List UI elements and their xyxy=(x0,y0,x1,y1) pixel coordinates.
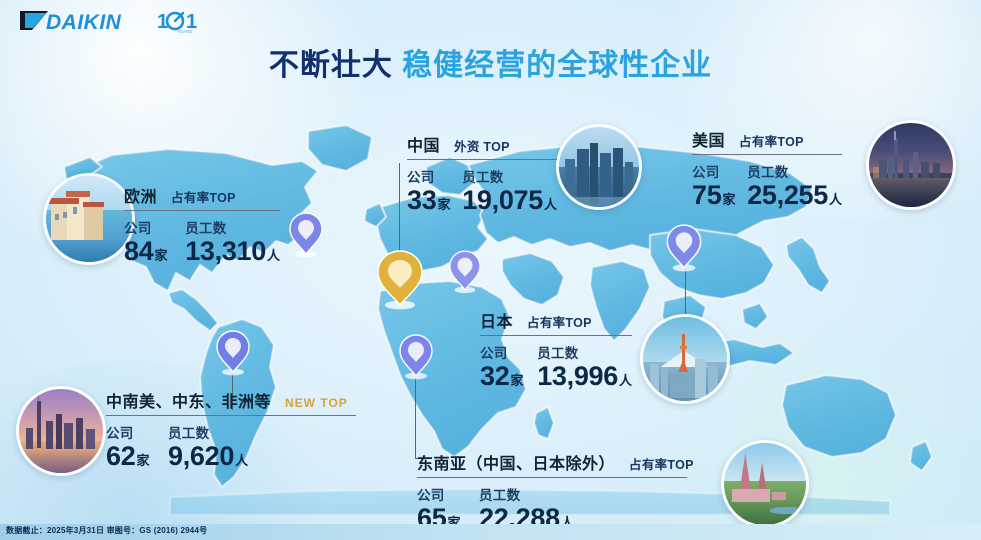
page-title: 不断壮大 稳健经营的全球性企业 xyxy=(0,40,981,84)
southeast-asia-temple-photo[interactable] xyxy=(721,440,809,528)
metric-staff-japan: 员工数 13,996人 xyxy=(537,342,632,390)
region-tag-japan: 占有率TOP xyxy=(527,312,592,331)
region-header-southeast-asia: 东南亚（中国、日本除外） 占有率TOP xyxy=(417,450,687,476)
region-name-other-regions: 中南美、中东、非洲等 xyxy=(106,388,271,412)
region-block-other-regions: 中南美、中东、非洲等 NEW TOP 公司 62家 员工数 9,620人 xyxy=(106,388,356,470)
region-header-japan: 日本 占有率TOP xyxy=(480,308,632,334)
region-metrics-china: 公司 33家 员工数 19,075人 xyxy=(407,166,557,214)
metric-company-japan: 公司 32家 xyxy=(480,342,537,390)
europe-coastal-village-photo[interactable] xyxy=(43,173,135,265)
divider-japan xyxy=(480,335,632,336)
metric-company-value-usa: 75家 xyxy=(692,182,747,209)
region-name-china: 中国 xyxy=(407,132,440,156)
region-metrics-other-regions: 公司 62家 员工数 9,620人 xyxy=(106,422,356,470)
metric-staff-label-china: 员工数 xyxy=(462,166,557,186)
region-metrics-europe: 公司 84家 员工数 13,310人 xyxy=(124,217,280,265)
metric-company-value-other-regions: 62家 xyxy=(106,443,168,470)
metric-company-value-china: 33家 xyxy=(407,187,462,214)
metric-staff-europe: 员工数 13,310人 xyxy=(185,217,280,265)
region-name-usa: 美国 xyxy=(692,127,725,151)
divider-other-regions xyxy=(106,415,356,416)
metric-company-label-china: 公司 xyxy=(407,166,462,186)
page-title-part-dark: 不断壮大 xyxy=(269,49,393,82)
region-metrics-japan: 公司 32家 员工数 13,996人 xyxy=(480,342,632,390)
metric-staff-value-other-regions: 9,620人 xyxy=(168,443,248,470)
region-block-japan: 日本 占有率TOP 公司 32家 员工数 13,996人 xyxy=(480,308,632,390)
metric-staff-other-regions: 员工数 9,620人 xyxy=(168,422,248,470)
metric-company-china: 公司 33家 xyxy=(407,166,462,214)
metric-company-label-europe: 公司 xyxy=(124,217,185,237)
region-tag-usa: 占有率TOP xyxy=(739,131,804,150)
metric-staff-label-usa: 员工数 xyxy=(747,161,842,181)
svg-text:DAIKIN: DAIKIN xyxy=(46,11,122,34)
svg-text:YEARS: YEARS xyxy=(177,29,192,34)
metric-staff-usa: 员工数 25,255人 xyxy=(747,161,842,209)
region-name-europe: 欧洲 xyxy=(124,183,157,207)
page-title-part-light: 稳健经营的全球性企业 xyxy=(402,49,712,82)
region-header-usa: 美国 占有率TOP xyxy=(692,127,842,153)
region-header-other-regions: 中南美、中东、非洲等 NEW TOP xyxy=(106,388,356,414)
region-block-usa: 美国 占有率TOP 公司 75家 员工数 25,255人 xyxy=(692,127,842,209)
region-header-europe: 欧洲 占有率TOP xyxy=(124,183,280,209)
footer-note: 数据截止：2025年3月31日 审图号：GS (2016) 2944号 xyxy=(6,525,207,536)
slide-canvas: DAIKIN 1 1 YEARS 不断壮大 稳健经营的全球性企业 xyxy=(0,0,981,540)
metric-company-value-japan: 32家 xyxy=(480,363,537,390)
daikin-logo-icon: DAIKIN xyxy=(18,8,148,34)
anniversary-101-icon: 1 1 YEARS xyxy=(157,8,197,34)
region-tag-china: 外资 TOP xyxy=(454,136,510,155)
region-tag-europe: 占有率TOP xyxy=(171,187,236,206)
middle-east-dubai-skyline-photo[interactable] xyxy=(16,386,106,476)
divider-usa xyxy=(692,154,842,155)
region-block-china: 中国 外资 TOP 公司 33家 员工数 19,075人 xyxy=(407,132,557,214)
china-city-skyline-photo[interactable] xyxy=(556,124,642,210)
metric-staff-label-europe: 员工数 xyxy=(185,217,280,237)
pin-usa[interactable] xyxy=(665,222,703,272)
pin-china[interactable] xyxy=(375,248,425,310)
metric-staff-china: 员工数 19,075人 xyxy=(462,166,557,214)
pin-southeast-asia[interactable] xyxy=(398,332,434,380)
usa-newyork-skyline-photo[interactable] xyxy=(866,120,956,210)
metric-staff-value-china: 19,075人 xyxy=(462,187,557,214)
region-tag-other-regions: NEW TOP xyxy=(285,396,348,410)
pin-europe[interactable] xyxy=(288,210,324,258)
pin-other-regions[interactable] xyxy=(215,328,251,376)
region-name-japan: 日本 xyxy=(480,308,513,332)
metric-company-europe: 公司 84家 xyxy=(124,217,185,265)
metric-company-label-other-regions: 公司 xyxy=(106,422,168,442)
metric-staff-label-southeast-asia: 员工数 xyxy=(479,484,574,504)
region-header-china: 中国 外资 TOP xyxy=(407,132,557,158)
connector-southeast-asia xyxy=(415,378,416,458)
region-name-southeast-asia: 东南亚（中国、日本除外） xyxy=(417,450,615,474)
divider-china xyxy=(407,159,557,160)
brand-logo: DAIKIN 1 1 YEARS xyxy=(18,8,197,34)
metric-staff-value-usa: 25,255人 xyxy=(747,182,842,209)
connector-japan xyxy=(685,268,686,320)
region-tag-southeast-asia: 占有率TOP xyxy=(629,454,694,473)
metric-staff-value-europe: 13,310人 xyxy=(185,238,280,265)
metric-staff-label-other-regions: 员工数 xyxy=(168,422,248,442)
japan-tokyo-tower-photo[interactable] xyxy=(640,314,730,404)
metric-company-label-usa: 公司 xyxy=(692,161,747,181)
metric-staff-label-japan: 员工数 xyxy=(537,342,632,362)
region-metrics-usa: 公司 75家 员工数 25,255人 xyxy=(692,161,842,209)
pin-russia-asia[interactable] xyxy=(448,248,482,294)
metric-company-label-southeast-asia: 公司 xyxy=(417,484,479,504)
metric-company-other-regions: 公司 62家 xyxy=(106,422,168,470)
metric-staff-value-japan: 13,996人 xyxy=(537,363,632,390)
metric-company-label-japan: 公司 xyxy=(480,342,537,362)
region-block-southeast-asia: 东南亚（中国、日本除外） 占有率TOP 公司 65家 员工数 22,288人 xyxy=(417,450,687,532)
metric-company-usa: 公司 75家 xyxy=(692,161,747,209)
divider-europe xyxy=(124,210,280,211)
metric-company-value-europe: 84家 xyxy=(124,238,185,265)
region-block-europe: 欧洲 占有率TOP 公司 84家 员工数 13,310人 xyxy=(124,183,280,265)
divider-southeast-asia xyxy=(417,477,687,478)
